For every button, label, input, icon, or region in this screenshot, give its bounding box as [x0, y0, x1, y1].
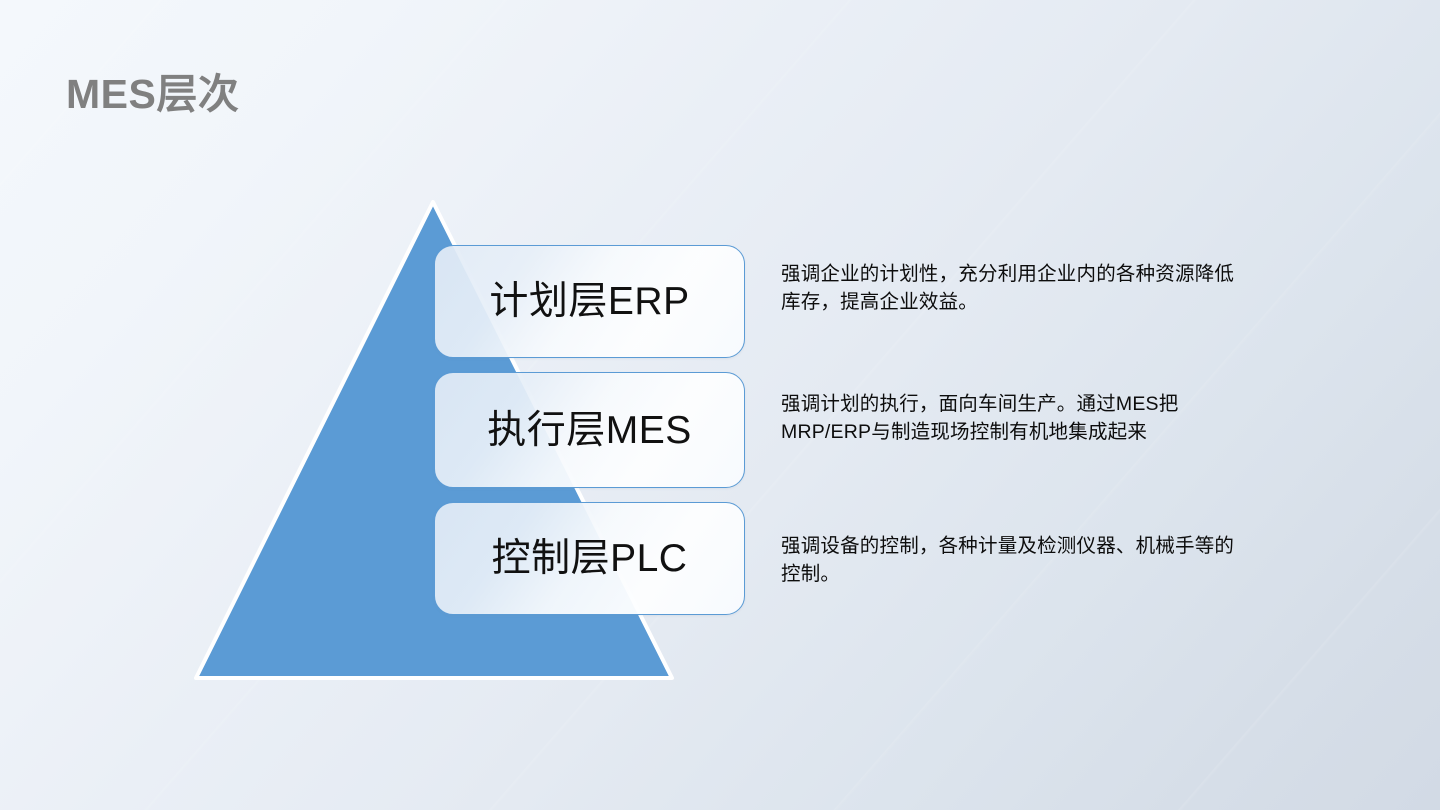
layer-description-execution: 强调计划的执行，面向车间生产。通过MES把MRP/ERP与制造现场控制有机地集成…: [781, 391, 1237, 446]
layer-box-control[interactable]: 控制层PLC: [434, 502, 745, 615]
layer-description-control: 强调设备的控制，各种计量及检测仪器、机械手等的控制。: [781, 533, 1237, 588]
slide-canvas: MES层次 计划层ERP 执行层MES 控制层PLC 强调企业的计划性，充分利用…: [0, 0, 1440, 810]
layer-box-plan[interactable]: 计划层ERP: [434, 245, 745, 358]
layer-label-plan: 计划层ERP: [489, 282, 689, 321]
layer-label-control: 控制层PLC: [492, 539, 688, 578]
layer-box-execution[interactable]: 执行层MES: [434, 372, 745, 488]
page-title: MES层次: [66, 60, 239, 120]
layer-description-plan: 强调企业的计划性，充分利用企业内的各种资源降低库存，提高企业效益。: [781, 261, 1237, 316]
layer-label-execution: 执行层MES: [487, 411, 692, 450]
